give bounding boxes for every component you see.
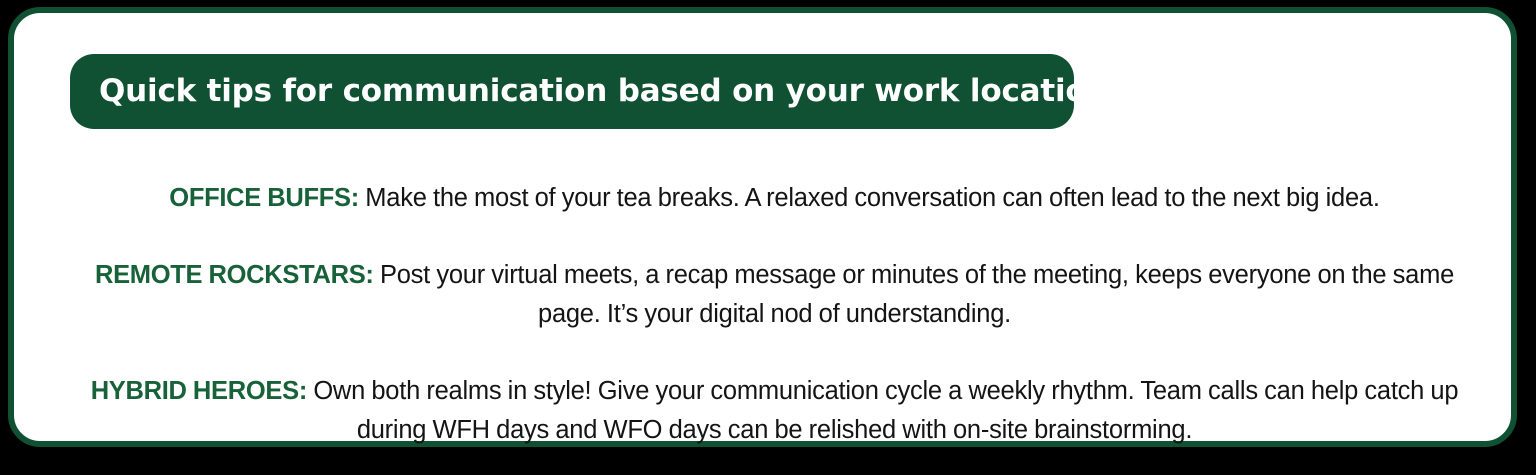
tip-text-remote-rockstars: Post your virtual meets, a recap message… (374, 261, 1454, 328)
tips-list: OFFICE BUFFS: Make the most of your tea … (70, 153, 1479, 475)
tip-label-hybrid-heroes: HYBRID HEROES: (91, 377, 307, 405)
tip-text-office-buffs: Make the most of your tea breaks. A rela… (359, 184, 1380, 212)
tip-item-remote-rockstars: REMOTE ROCKSTARS: Post your virtual meet… (70, 256, 1479, 334)
page-title: Quick tips for communication based on yo… (99, 76, 1122, 107)
tips-card: Quick tips for communication based on yo… (8, 7, 1517, 447)
tip-label-remote-rockstars: REMOTE ROCKSTARS: (95, 261, 374, 289)
tip-item-hybrid-heroes: HYBRID HEROES: Own both realms in style!… (70, 372, 1479, 450)
tip-text-hybrid-heroes: Own both realms in style! Give your comm… (307, 377, 1458, 444)
tip-item-office-buffs: OFFICE BUFFS: Make the most of your tea … (70, 179, 1479, 218)
header-badge: Quick tips for communication based on yo… (70, 54, 1074, 129)
tip-label-office-buffs: OFFICE BUFFS: (169, 184, 359, 212)
slide-root: Quick tips for communication based on yo… (0, 0, 1536, 466)
